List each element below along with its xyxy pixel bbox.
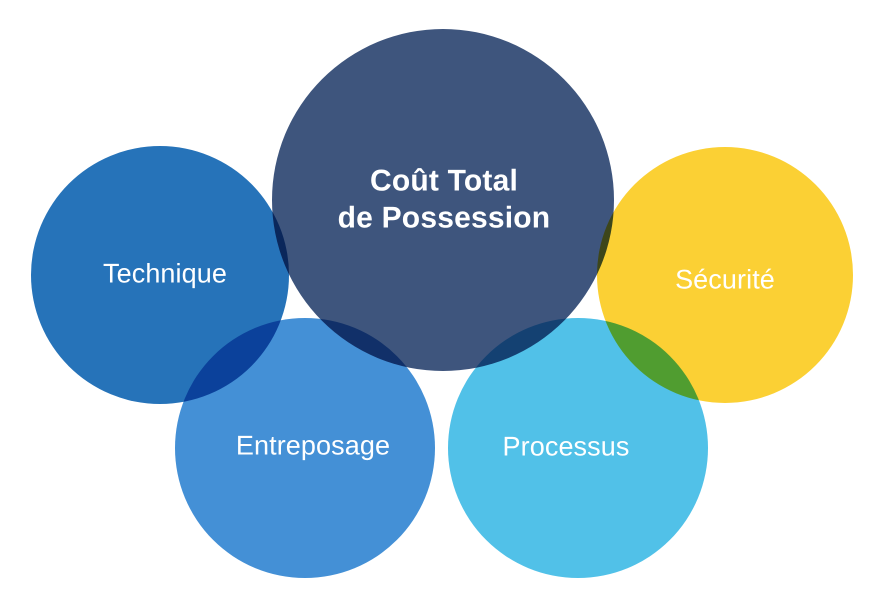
venn-circles-canvas	[0, 0, 881, 604]
circle-securite[interactable]	[597, 147, 853, 403]
venn-diagram: Technique Coût Total de Possession Sécur…	[0, 0, 881, 604]
circle-cout-total-de-possession[interactable]	[272, 29, 614, 371]
